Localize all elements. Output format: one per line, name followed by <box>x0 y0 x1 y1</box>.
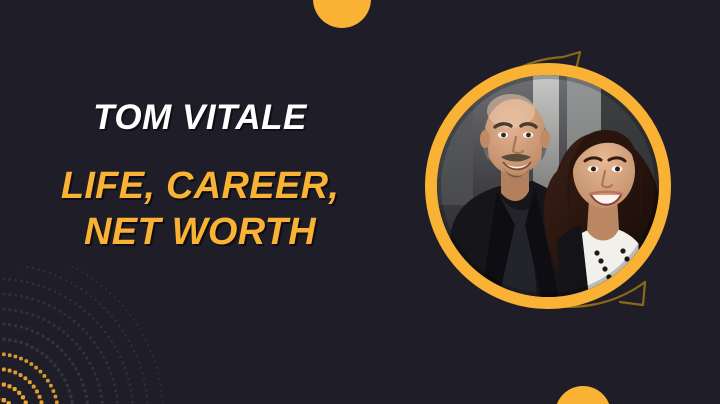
text-block: TOM VITALE LIFE, CAREER, NET WORTH <box>0 100 400 255</box>
portrait-photo <box>437 75 659 297</box>
subtitle: LIFE, CAREER, NET WORTH <box>0 163 400 256</box>
top-accent-circle <box>313 0 371 28</box>
halftone-dot-pattern <box>0 266 210 404</box>
portrait-ring <box>425 63 671 309</box>
subtitle-line-1: LIFE, CAREER, <box>0 163 400 209</box>
subtitle-line-2: NET WORTH <box>0 209 400 255</box>
portrait-photo-illustration <box>437 75 659 297</box>
bottom-accent-circle <box>555 386 611 404</box>
thumbnail-canvas: TOM VITALE LIFE, CAREER, NET WORTH <box>0 0 720 404</box>
page-title: TOM VITALE <box>0 100 400 137</box>
portrait-group <box>404 44 696 356</box>
